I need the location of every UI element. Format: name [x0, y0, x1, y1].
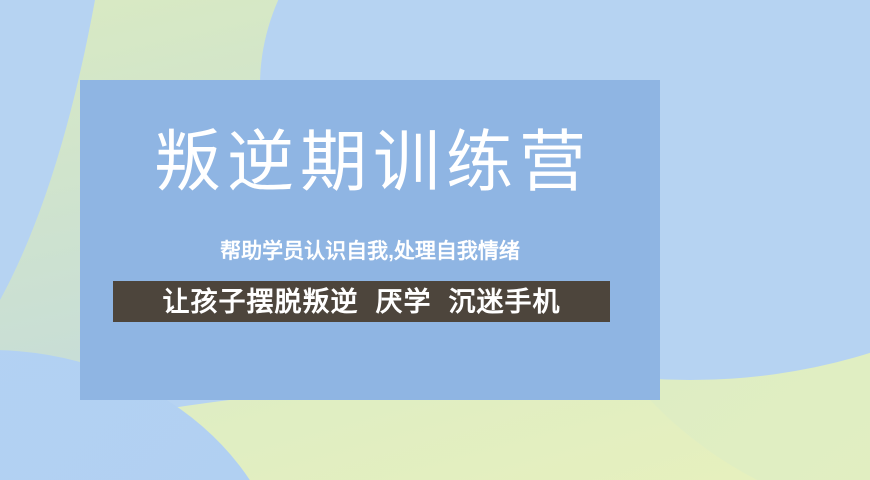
callout-text: 让孩子摆脱叛逆 厌学 沉迷手机: [162, 287, 560, 317]
callout-bar: 让孩子摆脱叛逆 厌学 沉迷手机: [113, 281, 610, 322]
subtitle-text: 帮助学员认识自我,处理自我情绪: [80, 238, 660, 266]
poster-banner: 叛逆期训练营 帮助学员认识自我,处理自我情绪 让孩子摆脱叛逆 厌学 沉迷手机: [0, 0, 870, 480]
page-title: 叛逆期训练营: [80, 122, 660, 204]
